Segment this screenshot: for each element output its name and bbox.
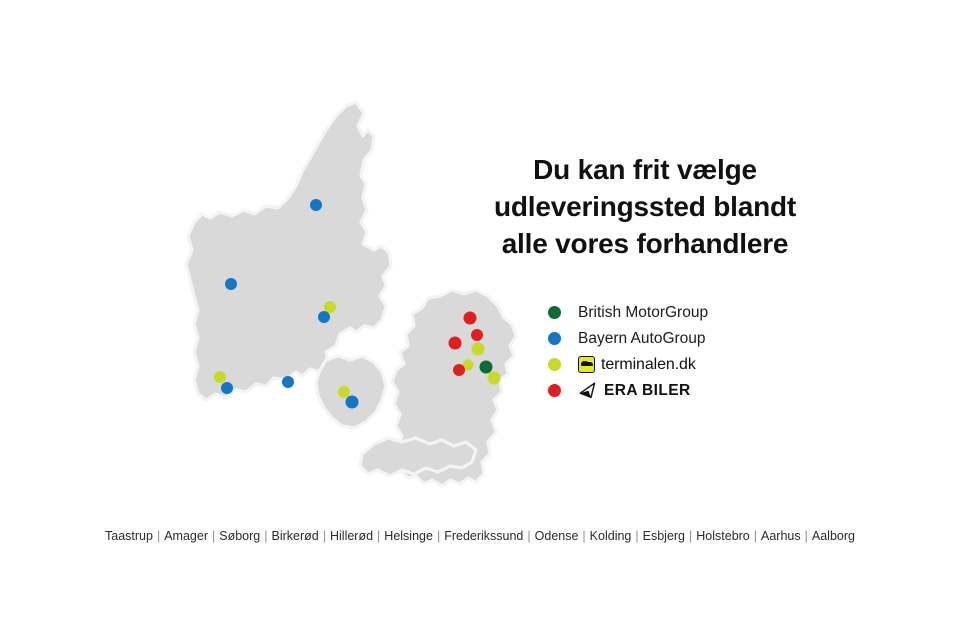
city-separator: | (320, 529, 329, 543)
city-name: Kolding (589, 529, 633, 543)
legend-dot-british-motorgroup (548, 306, 561, 319)
city-separator: | (632, 529, 641, 543)
legend-dot-terminalen (548, 358, 561, 371)
city-name: Søborg (218, 529, 261, 543)
legend-label-british-motorgroup: British MotorGroup (578, 304, 708, 322)
city-name: Taastrup (104, 529, 154, 543)
city-separator: | (434, 529, 443, 543)
legend-item-terminalen[interactable]: terminalen.dk (548, 352, 878, 377)
map-marker-taastrup[interactable] (488, 372, 501, 385)
map-marker-esbjerg[interactable] (221, 382, 233, 394)
legend-dot-bayern-autogroup (548, 332, 561, 345)
map-marker-holstebro[interactable] (225, 278, 237, 290)
city-name: Birkerød (271, 529, 320, 543)
legend-item-british-motorgroup[interactable]: British MotorGroup (548, 300, 878, 325)
city-name: Aarhus (760, 529, 802, 543)
city-name: Frederikssund (443, 529, 524, 543)
city-separator: | (374, 529, 383, 543)
map-marker-kolding[interactable] (282, 376, 294, 388)
city-separator: | (686, 529, 695, 543)
legend-item-bayern-autogroup[interactable]: Bayern AutoGroup (548, 326, 878, 351)
headline-line-3: alle vores forhandlere (455, 226, 835, 263)
legend-label-bayern-autogroup: Bayern AutoGroup (578, 330, 706, 348)
headline: Du kan frit vælge udleveringssted blandt… (455, 152, 835, 263)
map-marker-odense-terminalen[interactable] (338, 386, 350, 398)
city-separator: | (524, 529, 533, 543)
map-marker-frederikssund[interactable] (449, 337, 462, 350)
city-name: Amager (163, 529, 209, 543)
legend-label-terminalen: terminalen.dk (601, 356, 696, 374)
city-separator: | (579, 529, 588, 543)
city-separator: | (261, 529, 270, 543)
headline-line-1: Du kan frit vælge (455, 152, 835, 189)
map-marker-aarhus-terminalen[interactable] (324, 301, 336, 313)
map-marker-soborg-era[interactable] (453, 364, 465, 376)
legend-logo-era-biler: ERA BILER (578, 382, 691, 400)
city-name: Aalborg (811, 529, 856, 543)
city-list: Taastrup|Amager|Søborg|Birkerød|Hillerød… (0, 529, 960, 543)
headline-line-2: udleveringssted blandt (455, 189, 835, 226)
city-name: Hillerød (329, 529, 374, 543)
era-triangle-icon (578, 382, 598, 399)
terminalen-truck-icon (578, 356, 595, 373)
city-separator: | (154, 529, 163, 543)
city-name: Odense (534, 529, 580, 543)
city-name: Helsinge (383, 529, 434, 543)
denmark-map (150, 80, 550, 500)
city-separator: | (751, 529, 760, 543)
map-marker-hillerod[interactable] (471, 329, 483, 341)
legend-logo-terminalen: terminalen.dk (578, 356, 696, 374)
map-marker-amager[interactable] (480, 361, 493, 374)
city-name: Esbjerg (642, 529, 686, 543)
legend-label-era-biler: ERA BILER (604, 382, 691, 400)
legend-item-era-biler[interactable]: ERA BILER (548, 378, 878, 403)
map-marker-aalborg[interactable] (310, 199, 322, 211)
city-separator: | (802, 529, 811, 543)
map-marker-esbjerg-terminalen[interactable] (214, 371, 226, 383)
legend-dot-era-biler (548, 384, 561, 397)
map-region-funen (316, 356, 386, 428)
city-separator: | (209, 529, 218, 543)
map-marker-odense[interactable] (346, 396, 359, 409)
map-marker-birkerod[interactable] (472, 343, 485, 356)
denmark-map-svg (150, 80, 550, 500)
map-marker-aarhus[interactable] (318, 311, 330, 323)
map-marker-helsinge[interactable] (464, 312, 477, 325)
city-name: Holstebro (695, 529, 751, 543)
legend: British MotorGroup Bayern AutoGroup term… (548, 300, 878, 404)
